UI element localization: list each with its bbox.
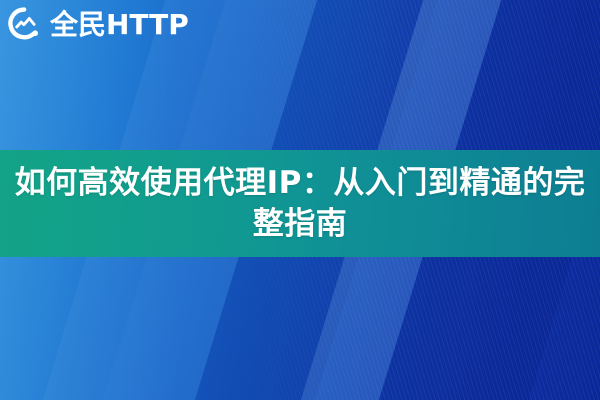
circular-q-mountain-logo-icon [6,6,44,44]
page-title: 如何高效使用代理IP：从入门到精通的完整指南 [0,163,600,245]
title-banner: 如何高效使用代理IP：从入门到精通的完整指南 [0,150,600,257]
brand-logo: 全民HTTP [6,4,189,46]
brand-name: 全民HTTP [50,11,189,39]
article-cover-image: 全民HTTP 如何高效使用代理IP：从入门到精通的完整指南 [0,0,600,400]
